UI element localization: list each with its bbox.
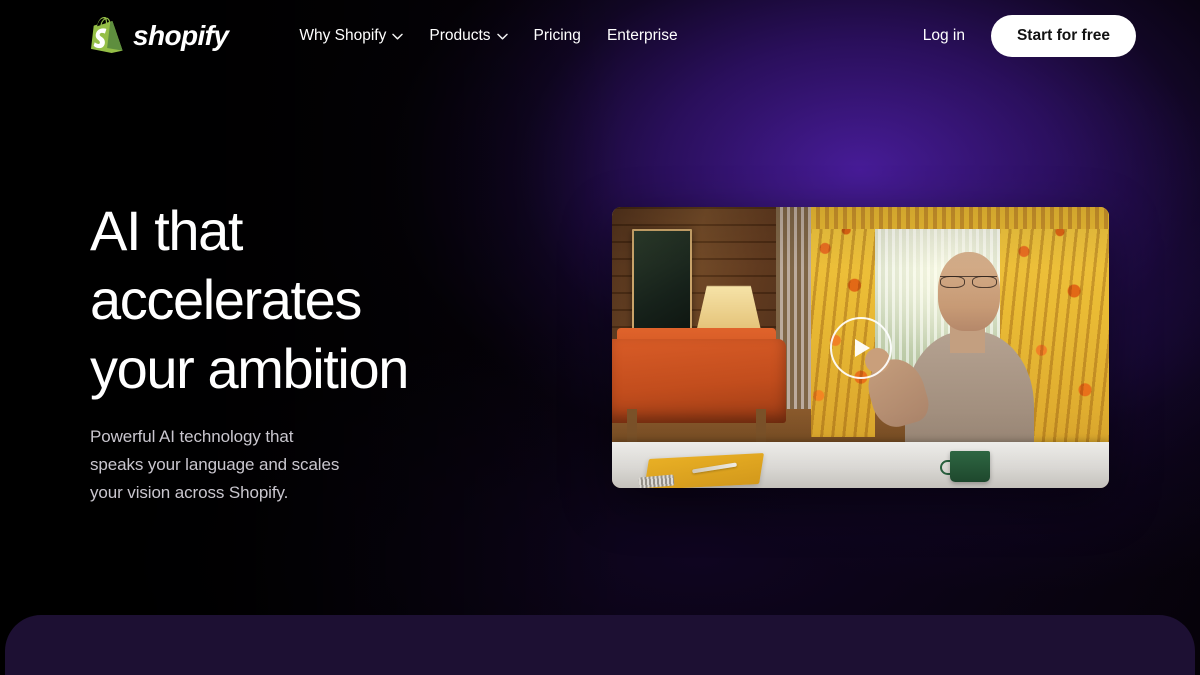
nav-item-enterprise[interactable]: Enterprise	[594, 19, 691, 53]
main-navigation: Why Shopify Products Pricing Enterprise	[286, 19, 690, 53]
nav-item-label: Why Shopify	[299, 27, 386, 45]
shopify-logo[interactable]: shopify	[90, 17, 228, 55]
site-header: shopify Why Shopify Products Pricing Ent…	[0, 0, 1200, 72]
hero-video-player[interactable]	[612, 207, 1109, 488]
nav-item-pricing[interactable]: Pricing	[521, 19, 594, 53]
play-button[interactable]	[830, 317, 892, 379]
shopify-wordmark: shopify	[133, 22, 228, 50]
nav-item-products[interactable]: Products	[416, 19, 520, 53]
hero-subtitle: Powerful AI technology that speaks your …	[90, 423, 530, 507]
page-root: shopify Why Shopify Products Pricing Ent…	[0, 0, 1200, 675]
hero-section: AI that accelerates your ambition Powerf…	[0, 0, 1200, 613]
play-icon	[855, 339, 870, 357]
start-for-free-button[interactable]: Start for free	[991, 15, 1136, 57]
login-link[interactable]: Log in	[913, 19, 975, 53]
nav-item-why-shopify[interactable]: Why Shopify	[286, 19, 416, 53]
nav-item-label: Products	[429, 27, 490, 45]
nav-item-label: Pricing	[534, 27, 581, 45]
header-actions: Log in Start for free	[913, 15, 1136, 57]
hero-copy: AI that accelerates your ambition Powerf…	[90, 196, 530, 507]
chevron-down-icon	[497, 33, 508, 40]
shopify-bag-icon	[90, 17, 124, 55]
chevron-down-icon	[392, 33, 403, 40]
nav-item-label: Enterprise	[607, 27, 678, 45]
next-section-panel	[5, 615, 1195, 675]
page-title: AI that accelerates your ambition	[90, 196, 530, 403]
